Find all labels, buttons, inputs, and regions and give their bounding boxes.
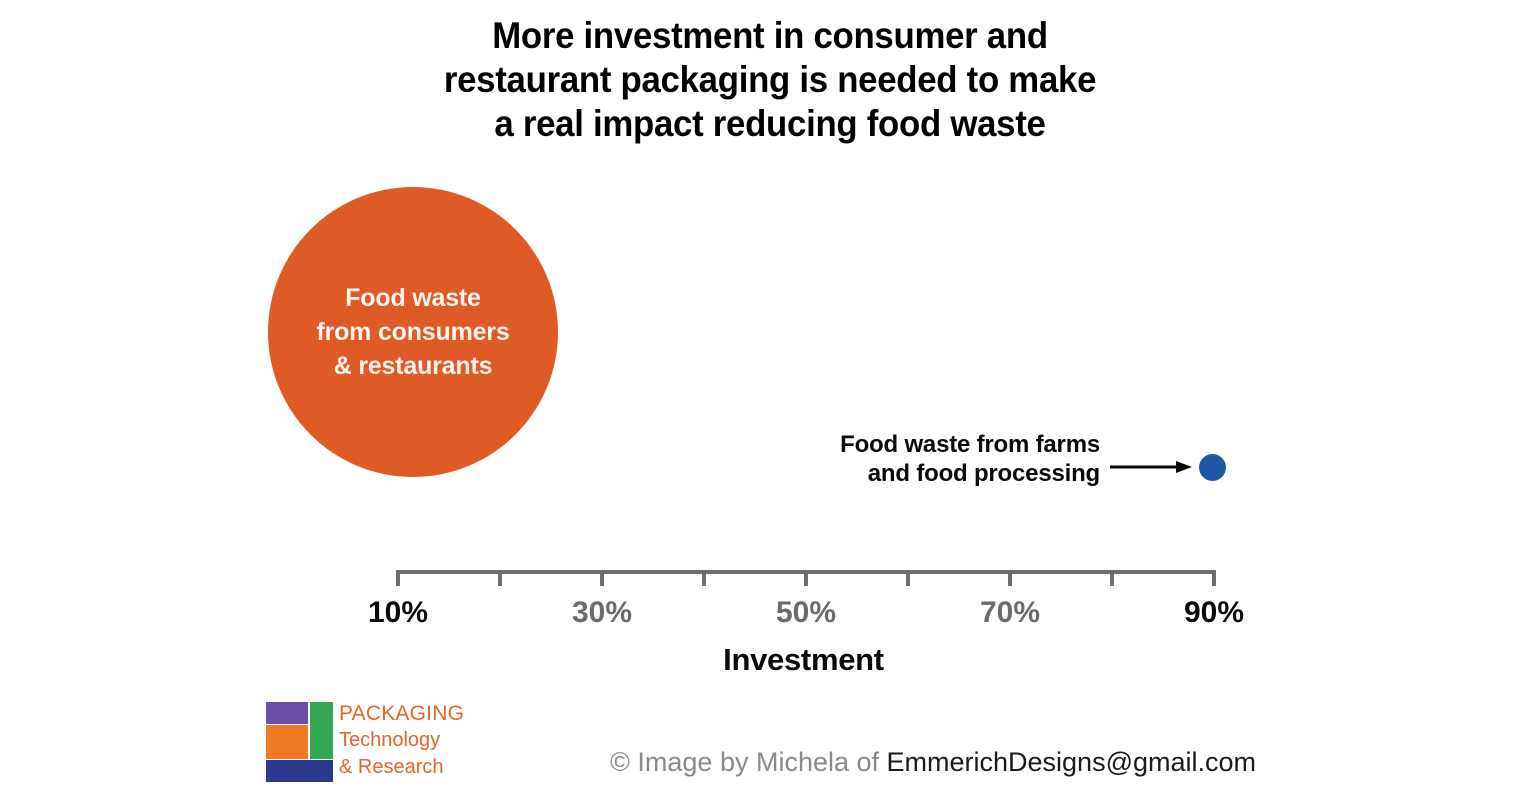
x-axis-tick-90 <box>1212 570 1216 586</box>
bubble-label-line-3: & restaurants <box>316 349 509 383</box>
x-axis-title-text: Investment <box>723 641 884 679</box>
x-axis <box>396 570 1218 592</box>
x-axis-tick-label-70: 70% <box>980 596 1040 630</box>
credit-line: © Image by Michela of EmmerichDesigns@gm… <box>610 745 1256 779</box>
bubble-food-waste-farms-processing[interactable] <box>1199 454 1226 481</box>
logo-line-technology: Technology <box>339 727 464 754</box>
brand-logo[interactable]: PACKAGING Technology & Research <box>265 701 460 783</box>
x-axis-title: Investment <box>0 641 1540 679</box>
bubble-label-line-2: from consumers <box>316 315 509 349</box>
x-axis-tick-70 <box>1008 570 1012 586</box>
logo-blue-block <box>266 760 333 782</box>
x-axis-tick-10 <box>396 570 400 586</box>
x-axis-tick-labels: 10%30%50%70%90% <box>0 596 1540 632</box>
arrow-icon <box>1110 459 1192 475</box>
title-line-2: restaurant packaging is needed to make <box>46 58 1494 102</box>
x-axis-tick-20 <box>498 570 502 586</box>
infographic-canvas: More investment in consumer and restaura… <box>0 0 1540 800</box>
bubble-food-waste-consumers-restaurants[interactable]: Food waste from consumers & restaurants <box>268 187 558 477</box>
logo-wordmark: PACKAGING Technology & Research <box>339 700 464 781</box>
callout-label-farms: Food waste from farms and food processin… <box>700 430 1100 488</box>
bubble-label-consumers: Food waste from consumers & restaurants <box>316 281 509 383</box>
x-axis-tick-label-50: 50% <box>776 596 836 630</box>
callout-line-1: Food waste from farms <box>700 430 1100 459</box>
x-axis-tick-80 <box>1110 570 1114 586</box>
x-axis-tick-30 <box>600 570 604 586</box>
title-line-1: More investment in consumer and <box>46 14 1494 58</box>
logo-mark-icon <box>265 701 333 781</box>
x-axis-tick-label-30: 30% <box>572 596 632 630</box>
x-axis-tick-60 <box>906 570 910 586</box>
logo-green-block <box>310 702 333 759</box>
logo-orange-block <box>266 725 308 759</box>
logo-line-packaging: PACKAGING <box>339 700 464 727</box>
callout-line-2: and food processing <box>700 459 1100 488</box>
x-axis-tick-50 <box>804 570 808 586</box>
logo-purple-block <box>266 702 308 724</box>
credit-prefix: © Image by Michela of <box>610 747 887 777</box>
x-axis-tick-40 <box>702 570 706 586</box>
x-axis-tick-label-90: 90% <box>1184 596 1244 630</box>
credit-email[interactable]: EmmerichDesigns@gmail.com <box>887 747 1257 777</box>
bubble-label-line-1: Food waste <box>316 281 509 315</box>
x-axis-tick-label-10: 10% <box>368 596 428 630</box>
logo-line-research: & Research <box>339 754 464 781</box>
chart-title: More investment in consumer and restaura… <box>0 14 1540 146</box>
title-line-3: a real impact reducing food waste <box>46 102 1494 146</box>
